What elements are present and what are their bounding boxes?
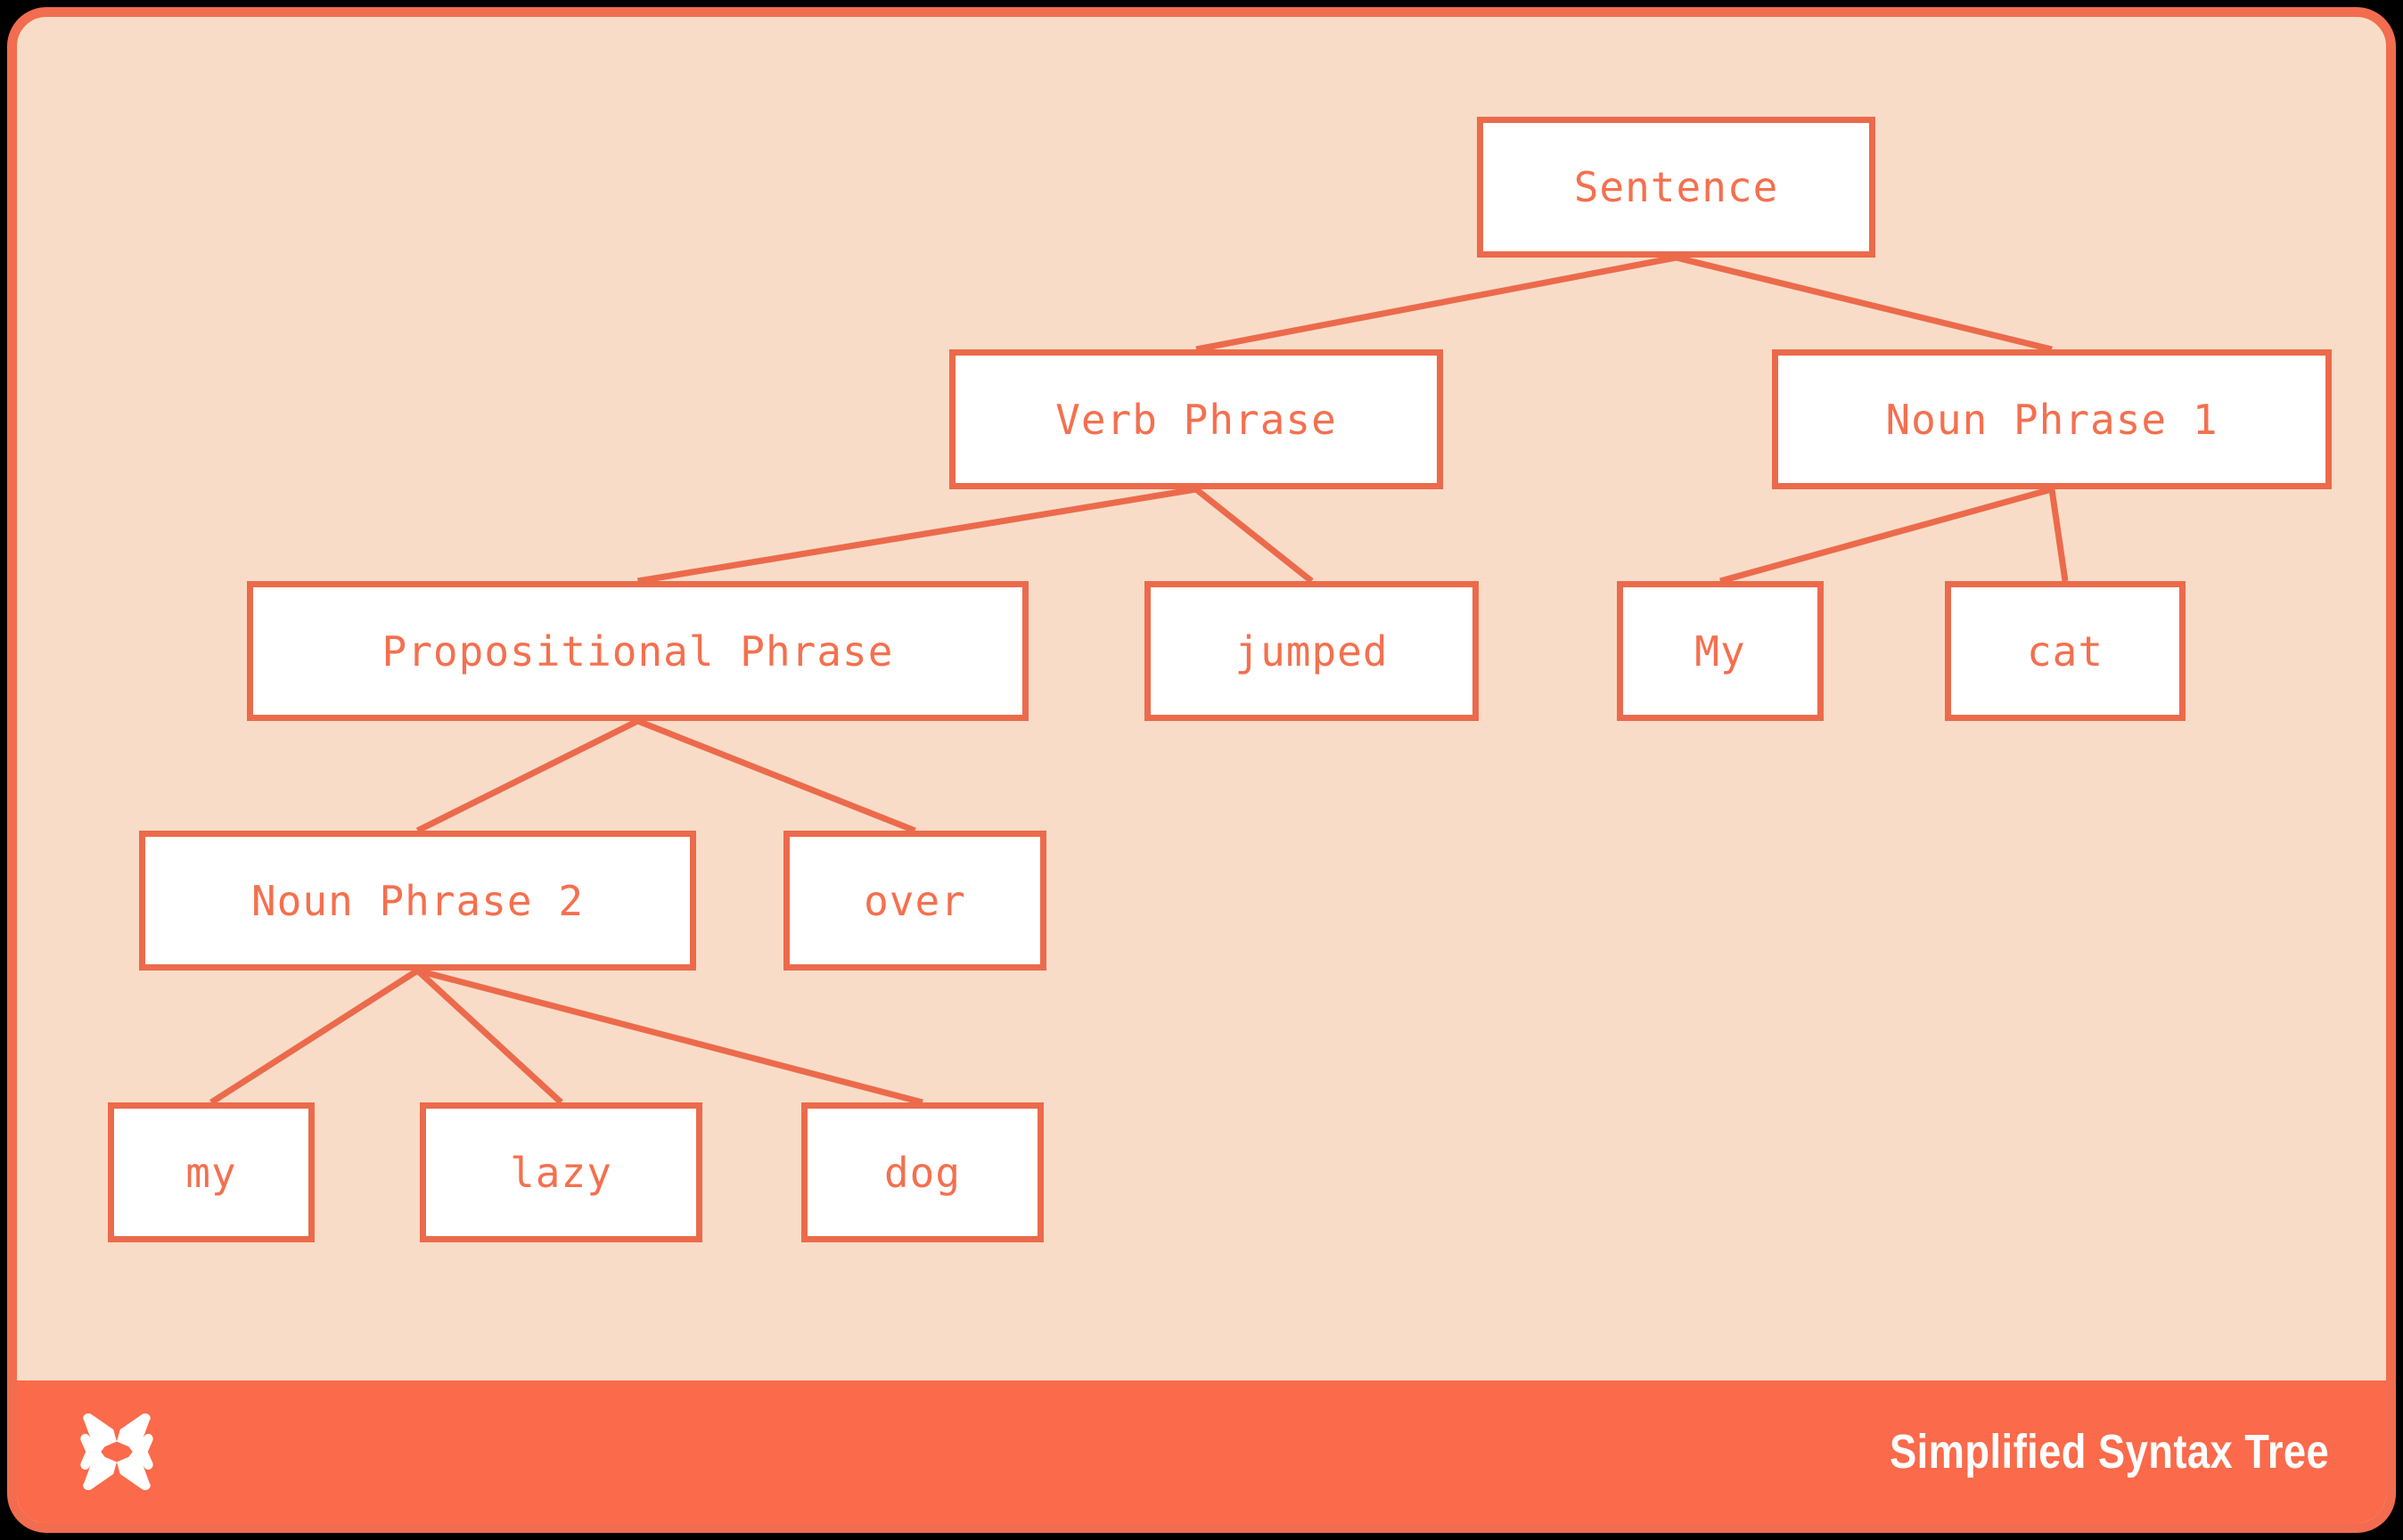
tree-edge [1196, 258, 1677, 349]
x-butterfly-logo-icon [74, 1409, 160, 1495]
tree-node-label: Sentence [1574, 163, 1779, 211]
tree-edge [638, 721, 915, 831]
tree-node-prop_phrase[interactable]: Propositional Phrase [247, 581, 1029, 721]
tree-edge [2052, 489, 2065, 581]
tree-edge [1720, 489, 2052, 581]
tree-node-label: jumped [1234, 627, 1388, 676]
tree-node-lazy[interactable]: lazy [420, 1102, 702, 1242]
tree-node-my_low[interactable]: my [108, 1102, 315, 1242]
tree-node-cat[interactable]: cat [1945, 581, 2186, 721]
tree-node-noun_phrase_1[interactable]: Noun Phrase 1 [1772, 349, 2332, 489]
tree-node-sentence[interactable]: Sentence [1477, 117, 1875, 258]
tree-edge [638, 489, 1197, 581]
tree-node-jumped[interactable]: jumped [1144, 581, 1479, 721]
footer-bar: Simplified Syntax Tree [17, 1380, 2386, 1523]
tree-node-label: my [185, 1149, 236, 1197]
tree-edge [1677, 258, 2053, 349]
tree-node-my_cap[interactable]: My [1617, 581, 1824, 721]
tree-edge [211, 971, 418, 1102]
tree-node-label: Noun Phrase 2 [251, 877, 584, 925]
tree-edge [418, 721, 638, 831]
diagram-card: SentenceVerb PhraseNoun Phrase 1Proposit… [7, 7, 2396, 1533]
syntax-tree-canvas: SentenceVerb PhraseNoun Phrase 1Proposit… [17, 17, 2386, 1380]
tree-node-label: Noun Phrase 1 [1885, 396, 2218, 444]
tree-node-noun_phrase_2[interactable]: Noun Phrase 2 [139, 831, 696, 971]
tree-node-label: lazy [510, 1149, 612, 1197]
tree-node-verb_phrase[interactable]: Verb Phrase [949, 349, 1443, 489]
footer-title: Simplified Syntax Tree [1890, 1424, 2329, 1479]
tree-node-label: over [864, 877, 966, 925]
tree-node-label: Verb Phrase [1055, 396, 1337, 444]
screenshot-root: SentenceVerb PhraseNoun Phrase 1Proposit… [0, 0, 2403, 1540]
tree-node-dog[interactable]: dog [801, 1102, 1044, 1242]
tree-node-label: Propositional Phrase [382, 627, 894, 676]
tree-node-label: dog [884, 1149, 961, 1197]
tree-node-label: My [1694, 627, 1745, 676]
tree-node-over[interactable]: over [783, 831, 1046, 971]
tree-edge [1196, 489, 1312, 581]
tree-node-label: cat [2027, 627, 2104, 676]
